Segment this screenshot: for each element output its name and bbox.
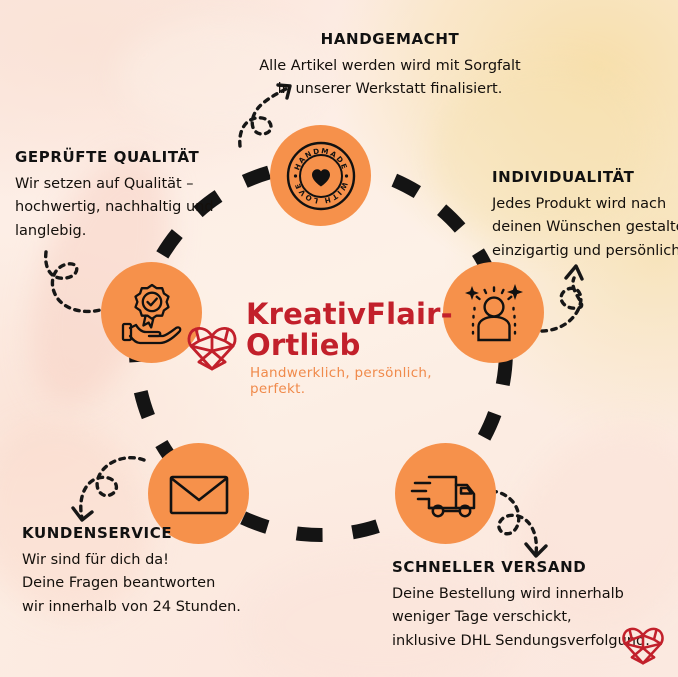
feature-line: Wir sind für dich da! — [22, 549, 302, 572]
feature-line: in unserer Werkstatt finalisiert. — [240, 78, 540, 101]
brand-tagline: Handwerklich, persönlich, perfekt. — [250, 365, 478, 397]
feature-title: HANDGEMACHT — [240, 30, 540, 48]
geometric-heart-icon — [186, 324, 238, 372]
feature-title: GEPRÜFTE QUALITÄT — [15, 148, 265, 166]
feature-gepruefte-qualitaet: GEPRÜFTE QUALITÄT Wir setzen auf Qualitä… — [15, 148, 265, 243]
brand-name: KreativFlair-Ortlieb — [246, 299, 478, 360]
feature-line: wir innerhalb von 24 Stunden. — [22, 596, 302, 619]
brand-logo-text: KreativFlair-Ortlieb Handwerklich, persö… — [246, 299, 478, 397]
feature-line: Wir setzen auf Qualität – — [15, 173, 265, 196]
feature-title: INDIVIDUALITÄT — [492, 168, 678, 186]
feature-line: einzigartig und persönlich — [492, 240, 678, 263]
feature-title: KUNDENSERVICE — [22, 524, 302, 542]
feature-line: Jedes Produkt wird nach — [492, 193, 678, 216]
feature-kundenservice: KUNDENSERVICE Wir sind für dich da! Dein… — [22, 524, 302, 619]
feature-line: Deine Fragen beantworten — [22, 572, 302, 595]
feature-line: deinen Wünschen gestaltet – — [492, 216, 678, 239]
corner-geometric-heart-icon — [621, 625, 665, 666]
feature-line: hochwertig, nachhaltig und — [15, 196, 265, 219]
envelope-icon — [166, 461, 232, 527]
feature-line: Alle Artikel werden wird mit Sorgfalt — [240, 55, 540, 78]
feature-individualitaet: INDIVIDUALITÄT Jedes Produkt wird nach d… — [492, 168, 678, 263]
feature-handgemacht: HANDGEMACHT Alle Artikel werden wird mit… — [240, 30, 540, 102]
node-schneller-versand[interactable] — [395, 443, 496, 544]
node-handgemacht[interactable]: HANDMADE WITH LOVE — [270, 125, 371, 226]
feature-line: langlebig. — [15, 220, 265, 243]
brand-logo[interactable]: KreativFlair-Ortlieb Handwerklich, persö… — [186, 312, 478, 384]
delivery-truck-icon — [410, 461, 482, 527]
infographic-canvas: HANDMADE WITH LOVE — [0, 0, 678, 677]
hand-holding-quality-badge-icon — [118, 279, 186, 347]
feature-title: SCHNELLER VERSAND — [392, 558, 678, 576]
handmade-with-love-stamp-icon: HANDMADE WITH LOVE — [285, 140, 357, 212]
feature-line: Deine Bestellung wird innerhalb — [392, 583, 678, 606]
